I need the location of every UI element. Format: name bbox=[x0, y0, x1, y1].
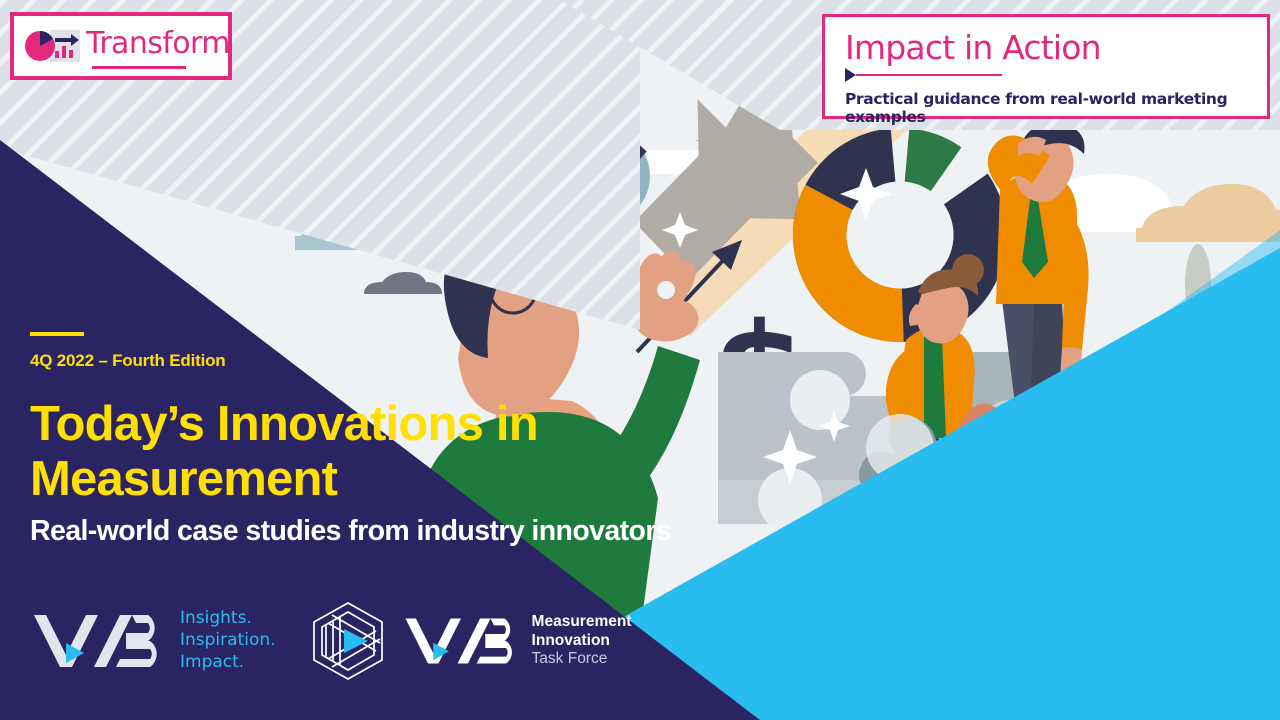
task-force-label: Measurement Innovation Task Force bbox=[532, 613, 632, 670]
impact-title: Impact in Action bbox=[845, 31, 1267, 64]
footer-logos: Insights. Inspiration. Impact. bbox=[30, 596, 631, 686]
tagline-insights: Insights. bbox=[180, 608, 276, 630]
slide-root: $ bbox=[0, 0, 1280, 720]
vab-tagline: Insights. Inspiration. Impact. bbox=[180, 608, 276, 673]
edition-label: 4Q 2022 – Fourth Edition bbox=[30, 351, 810, 371]
impact-subtitle: Practical guidance from real-world marke… bbox=[845, 90, 1267, 126]
transform-badge[interactable]: Transform bbox=[10, 12, 232, 80]
transform-underline bbox=[92, 66, 186, 69]
pie-chart-bar-arrow-icon bbox=[24, 26, 82, 66]
title-accent-rule bbox=[30, 332, 84, 336]
transform-label: Transform bbox=[86, 26, 230, 61]
task-force-line-2: Innovation bbox=[532, 632, 632, 651]
headline-line-2: Measurement bbox=[30, 452, 810, 507]
vab-logo bbox=[30, 607, 166, 675]
headline-line-1: Today’s Innovations in bbox=[30, 397, 810, 452]
title-block: 4Q 2022 – Fourth Edition Today’s Innovat… bbox=[30, 332, 810, 548]
impact-divider bbox=[856, 74, 1002, 77]
measurement-innovation-hexagon-icon bbox=[306, 599, 390, 683]
vab-logo-secondary bbox=[402, 611, 520, 671]
tagline-inspiration: Inspiration. bbox=[180, 630, 276, 652]
task-force-line-3: Task Force bbox=[532, 650, 632, 669]
page-title: Today’s Innovations in Measurement bbox=[30, 397, 810, 507]
impact-rule-row bbox=[845, 68, 1267, 82]
impact-in-action-badge[interactable]: Impact in Action Practical guidance from… bbox=[822, 14, 1270, 119]
page-subtitle: Real-world case studies from industry in… bbox=[30, 515, 810, 548]
tagline-impact: Impact. bbox=[180, 652, 276, 674]
play-triangle-icon bbox=[845, 68, 856, 82]
task-force-line-1: Measurement bbox=[532, 613, 632, 632]
